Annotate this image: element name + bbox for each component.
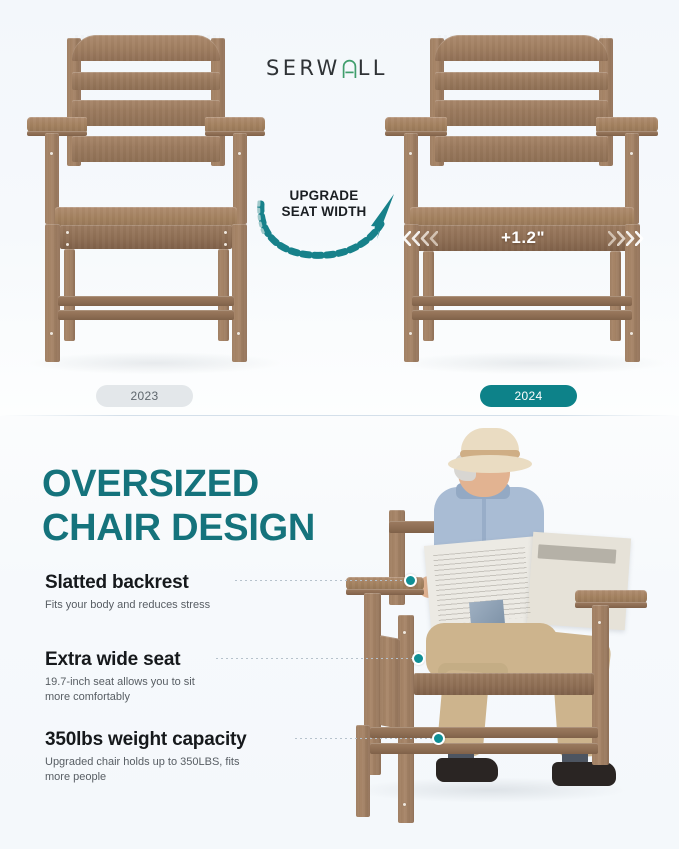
feature-desc: Upgraded chair holds up to 350LBS, fits … — [45, 755, 247, 785]
stretcher-front — [58, 296, 234, 306]
year-badge-2023: 2023 — [96, 385, 193, 407]
feature-title: Extra wide seat — [45, 648, 195, 671]
seat-surface — [55, 207, 237, 227]
headline-line-1: OVERSIZED — [42, 462, 315, 506]
stretcher-lower — [58, 310, 234, 320]
backrest-slat-3 — [435, 136, 608, 162]
photo-person-hat-brim — [448, 455, 532, 473]
backrest-slat-1 — [435, 72, 608, 90]
feature-title: Slatted backrest — [45, 571, 210, 594]
stretcher-lower — [412, 310, 632, 320]
armrest-right — [205, 117, 265, 132]
backrest-slat-2 — [72, 100, 220, 126]
photo-chair-front-leg — [398, 615, 414, 823]
arch-letter-a-icon — [342, 59, 357, 78]
upgrade-line-2: SEAT WIDTH — [264, 204, 384, 220]
photo-chair-side-rail — [380, 635, 400, 729]
photo-chair-stretcher-lower — [370, 743, 598, 754]
leg-back-left — [64, 249, 75, 341]
feature-weight-capacity: 350lbs weight capacity Upgraded chair ho… — [45, 728, 247, 785]
photo-person-shoe-left — [436, 758, 498, 782]
lifestyle-photo — [330, 425, 679, 825]
leg-front-left — [45, 224, 60, 362]
feature-desc: 19.7-inch seat allows you to sit more co… — [45, 675, 195, 705]
seat-width-value: +1.2" — [501, 228, 545, 248]
feature-dot-backrest — [404, 574, 417, 587]
seat-surface — [410, 207, 634, 227]
photo-chair-armrest-right-edge — [575, 602, 647, 608]
feature-slatted-backrest: Slatted backrest Fits your body and redu… — [45, 571, 210, 613]
feature-dot-capacity — [432, 732, 445, 745]
armrest-left — [27, 117, 87, 132]
product-infographic: SERW LL — [0, 0, 679, 849]
photo-chair-arm-post-right — [592, 605, 609, 765]
photo-person-shoe-right — [552, 762, 616, 786]
backrest-top-rail — [435, 35, 608, 61]
feature-connector-2 — [216, 658, 416, 659]
chair-2024-illustration — [380, 0, 679, 380]
year-badge-2024: 2024 — [480, 385, 577, 407]
seat-width-measure: +1.2" — [402, 226, 644, 250]
backrest-top-rail — [72, 35, 220, 61]
stretcher-front — [412, 296, 632, 306]
feature-desc: Fits your body and reduces stress — [45, 598, 210, 613]
armrest-right — [596, 117, 658, 132]
photo-chair-seat-front — [414, 673, 594, 695]
backrest-slat-1 — [72, 72, 220, 90]
feature-dot-seat — [412, 652, 425, 665]
backrest-slat-2 — [435, 100, 608, 126]
page-title: OVERSIZED CHAIR DESIGN — [42, 462, 315, 550]
leg-front-right — [232, 224, 247, 362]
backrest-slat-3 — [72, 136, 220, 162]
headline-line-2: CHAIR DESIGN — [42, 506, 315, 550]
chevrons-right-icon — [608, 231, 644, 246]
seat-apron — [60, 225, 232, 249]
upgrade-callout: UPGRADE SEAT WIDTH — [264, 188, 384, 220]
chevrons-left-icon — [402, 231, 438, 246]
feature-connector-1 — [235, 580, 410, 581]
feature-connector-3 — [295, 738, 437, 739]
photo-chair-stretcher — [370, 727, 598, 738]
upgrade-line-1: UPGRADE — [264, 188, 384, 204]
feature-title: 350lbs weight capacity — [45, 728, 247, 751]
armrest-left — [385, 117, 447, 132]
comparison-panel: SERW LL — [0, 0, 679, 416]
photo-chair-armrest-left-edge — [346, 589, 424, 595]
feature-extra-wide-seat: Extra wide seat 19.7-inch seat allows yo… — [45, 648, 195, 705]
leg-back-right — [218, 249, 229, 341]
